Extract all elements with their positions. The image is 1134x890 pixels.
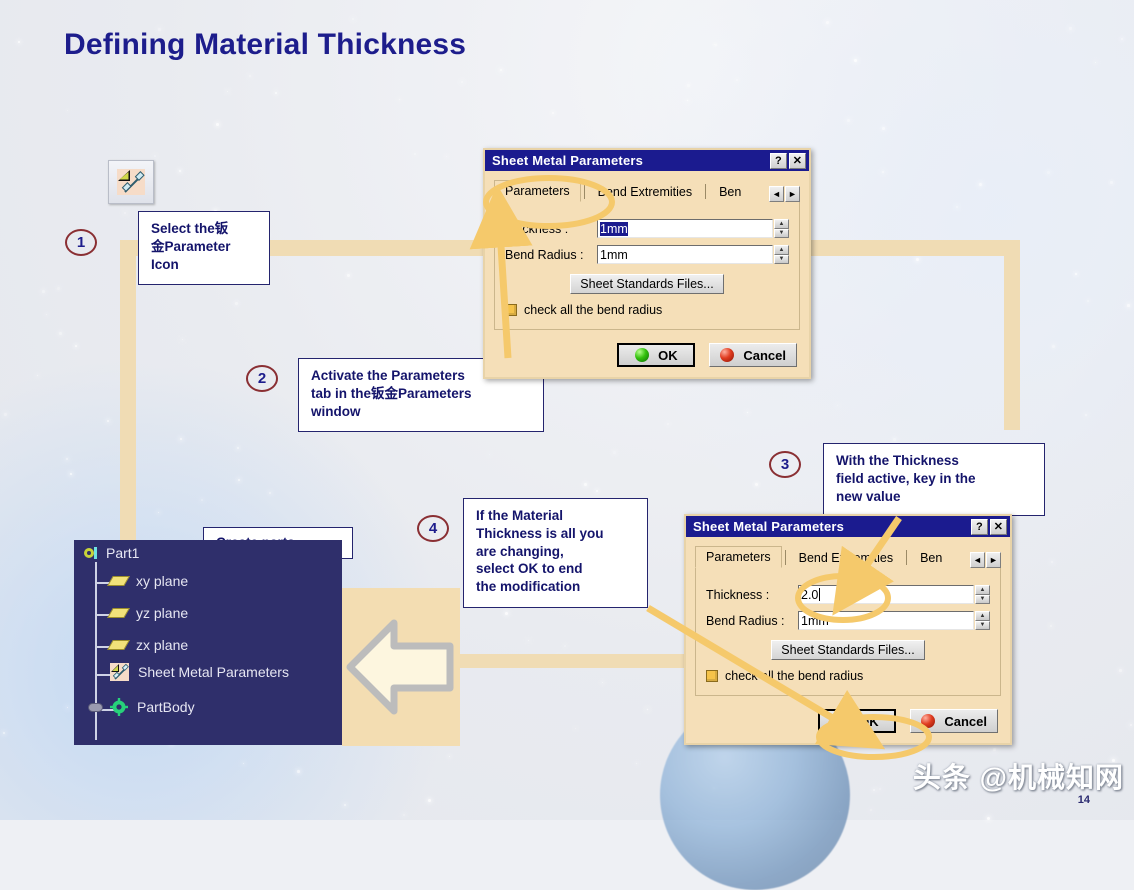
spinner-down-icon[interactable]: ▼ [774, 229, 789, 239]
tab-parameters[interactable]: Parameters [494, 180, 581, 202]
tree-collapse-node[interactable] [88, 703, 103, 712]
tab-parameters[interactable]: Parameters [695, 546, 782, 568]
callout-step-4-line-3: are changing, [476, 543, 637, 561]
sheet-metal-parameters-icon [110, 663, 129, 681]
watermark: 头条 @机械知网 [913, 756, 1124, 796]
page-title: Defining Material Thickness [64, 28, 466, 62]
tree-item-label: yz plane [136, 605, 188, 621]
dialog-body: Parameters Bend Extremities Ben ◄ ► Thic… [485, 171, 809, 334]
ok-button-label: OK [658, 348, 678, 363]
callout-step-3-line-1: With the Thickness [836, 452, 1034, 470]
cancel-button[interactable]: Cancel [910, 709, 998, 733]
tab-bend-truncated[interactable]: Ben [910, 548, 952, 568]
help-button[interactable]: ? [971, 519, 988, 535]
thickness-input[interactable]: 2.0 [798, 585, 974, 604]
page-number: 14 [1078, 794, 1090, 806]
close-icon[interactable]: ✕ [990, 519, 1007, 535]
callout-step-3-line-3: new value [836, 488, 1034, 506]
sheet-metal-parameters-glyph [116, 168, 146, 196]
callout-step-1-line-1: Select the钣 [151, 220, 259, 238]
spinner-down-icon[interactable]: ▼ [975, 595, 990, 605]
tree-root-label: Part1 [106, 545, 139, 561]
tab-scroll-right-icon[interactable]: ► [986, 552, 1001, 568]
dialog-title-label: Sheet Metal Parameters [693, 519, 844, 534]
step-number-3: 3 [769, 451, 801, 478]
check-all-bend-radius-checkbox[interactable] [706, 670, 718, 682]
tab-separator [584, 184, 585, 199]
check-all-bend-radius-label: check all the bend radius [725, 669, 863, 683]
flow-ribbon-right-vertical [1004, 240, 1020, 430]
left-arrow-icon [342, 588, 460, 746]
tree-item-sheet-metal-parameters[interactable]: Sheet Metal Parameters [110, 663, 289, 681]
dialog-titlebar[interactable]: Sheet Metal Parameters ? ✕ [686, 516, 1010, 537]
bend-radius-row: Bend Radius : 1mm ▲▼ [706, 611, 990, 630]
green-ball-icon [836, 714, 850, 728]
plane-icon [107, 640, 130, 650]
dialog-footer: OK Cancel [485, 334, 809, 377]
bend-radius-input[interactable]: 1mm [597, 245, 773, 264]
check-bend-radius-row[interactable]: check all the bend radius [505, 303, 789, 317]
tab-scroll-right-icon[interactable]: ► [785, 186, 800, 202]
step-number-4-label: 4 [429, 520, 437, 537]
ok-button-label: OK [859, 714, 879, 729]
part-icon [82, 545, 100, 561]
callout-step-1: Select the钣 金Parameter Icon [138, 211, 270, 285]
tab-scroll-left-icon[interactable]: ◄ [769, 186, 784, 202]
red-ball-icon [921, 714, 935, 728]
tree-item-partbody[interactable]: PartBody [110, 698, 195, 716]
thickness-label: Thickness : [505, 222, 597, 236]
step-number-4: 4 [417, 515, 449, 542]
bend-radius-input[interactable]: 1mm [798, 611, 974, 630]
tab-separator [705, 184, 706, 199]
tree-item-label: xy plane [136, 573, 188, 589]
ok-button[interactable]: OK [617, 343, 695, 367]
tree-item-label: PartBody [137, 699, 195, 715]
tree-root-part1[interactable]: Part1 [82, 545, 139, 561]
bend-radius-input-value: 1mm [600, 248, 628, 262]
dialog-title-label: Sheet Metal Parameters [492, 153, 643, 168]
plane-icon [107, 576, 130, 586]
tab-separator [785, 550, 786, 565]
flow-ribbon-bottom [455, 654, 685, 668]
tab-scroll-controls[interactable]: ◄ ► [769, 186, 800, 202]
sheet-standards-files-button[interactable]: Sheet Standards Files... [570, 274, 723, 294]
step-number-1: 1 [65, 229, 97, 256]
spinner-up-icon[interactable]: ▲ [774, 219, 789, 229]
check-all-bend-radius-checkbox[interactable] [505, 304, 517, 316]
tab-panel-parameters: Thickness : 1mm ▲▼ Bend Radius : 1mm ▲▼ … [494, 202, 800, 330]
callout-step-1-line-3: Icon [151, 256, 259, 274]
text-caret [819, 588, 820, 601]
tab-bend-truncated[interactable]: Ben [709, 182, 751, 202]
callout-step-4-line-1: If the Material [476, 507, 637, 525]
thickness-row: Thickness : 1mm ▲▼ [505, 219, 789, 238]
tab-bend-extremities[interactable]: Bend Extremities [588, 182, 702, 202]
dialog-sheet-metal-parameters-before[interactable]: Sheet Metal Parameters ? ✕ Parameters Be… [483, 148, 811, 379]
bend-radius-label: Bend Radius : [706, 614, 798, 628]
thickness-input-value: 2.0 [801, 588, 818, 602]
help-button[interactable]: ? [770, 153, 787, 169]
cancel-button[interactable]: Cancel [709, 343, 797, 367]
sheet-standards-row: Sheet Standards Files... [505, 274, 789, 294]
thickness-input[interactable]: 1mm [597, 219, 773, 238]
spinner-down-icon[interactable]: ▼ [975, 621, 990, 631]
thickness-row: Thickness : 2.0 ▲▼ [706, 585, 990, 604]
sheet-standards-files-button[interactable]: Sheet Standards Files... [771, 640, 924, 660]
red-ball-icon [720, 348, 734, 362]
thickness-input-value: 1mm [600, 222, 628, 236]
spinner-down-icon[interactable]: ▼ [774, 255, 789, 265]
step-number-1-label: 1 [77, 234, 85, 251]
tab-panel-parameters: Thickness : 2.0 ▲▼ Bend Radius : 1mm ▲▼ … [695, 568, 1001, 696]
plane-icon [107, 608, 130, 618]
spinner-up-icon[interactable]: ▲ [975, 585, 990, 595]
check-bend-radius-row[interactable]: check all the bend radius [706, 669, 990, 683]
thickness-spinner[interactable]: ▲▼ [975, 585, 990, 604]
dialog-titlebar[interactable]: Sheet Metal Parameters ? ✕ [485, 150, 809, 171]
bend-radius-row: Bend Radius : 1mm ▲▼ [505, 245, 789, 264]
callout-step-3-line-2: field active, key in the [836, 470, 1034, 488]
green-ball-icon [635, 348, 649, 362]
flow-ribbon-right-top [806, 240, 1020, 256]
bend-radius-label: Bend Radius : [505, 248, 597, 262]
tabstrip[interactable]: Parameters Bend Extremities Ben ◄ ► [494, 178, 800, 202]
callout-step-1-line-2: 金Parameter [151, 238, 259, 256]
sheet-metal-parameters-icon[interactable] [108, 160, 154, 204]
tab-scroll-controls[interactable]: ◄ ► [970, 552, 1001, 568]
cancel-button-label: Cancel [944, 714, 987, 729]
ok-button[interactable]: OK [818, 709, 896, 733]
callout-step-4: If the Material Thickness is all you are… [463, 498, 648, 608]
partbody-icon [110, 698, 128, 716]
callout-step-4-line-5: the modification [476, 578, 637, 596]
tree-item-yz-plane[interactable]: yz plane [110, 605, 188, 621]
callout-step-2-line-3: window [311, 403, 533, 421]
tab-bend-extremities[interactable]: Bend Extremities [789, 548, 903, 568]
flow-back-arrow-block [342, 588, 460, 746]
bend-radius-spinner[interactable]: ▲▼ [975, 611, 990, 630]
tree-item-label: zx plane [136, 637, 188, 653]
cancel-button-label: Cancel [743, 348, 786, 363]
thickness-label: Thickness : [706, 588, 798, 602]
callout-step-2-line-2: tab in the钣金Parameters [311, 385, 533, 403]
tab-separator [906, 550, 907, 565]
step-number-2: 2 [246, 365, 278, 392]
callout-step-3: With the Thickness field active, key in … [823, 443, 1045, 516]
spec-tree-panel[interactable]: Part1 xy plane yz plane zx plane Sheet M… [74, 540, 342, 745]
close-icon[interactable]: ✕ [789, 153, 806, 169]
callout-step-4-line-2: Thickness is all you [476, 525, 637, 543]
thickness-spinner[interactable]: ▲▼ [774, 219, 789, 238]
callout-step-4-line-4: select OK to end [476, 560, 637, 578]
tree-vertical-line [95, 562, 97, 740]
step-number-2-label: 2 [258, 370, 266, 387]
tree-item-label: Sheet Metal Parameters [138, 664, 289, 680]
tree-item-zx-plane[interactable]: zx plane [110, 637, 188, 653]
sheet-standards-row: Sheet Standards Files... [706, 640, 990, 660]
bend-radius-input-value: 1mm [801, 614, 829, 628]
dialog-footer: OK Cancel [686, 700, 1010, 743]
dialog-sheet-metal-parameters-after[interactable]: Sheet Metal Parameters ? ✕ Parameters Be… [684, 514, 1012, 745]
spinner-up-icon[interactable]: ▲ [774, 245, 789, 255]
tabstrip[interactable]: Parameters Bend Extremities Ben ◄ ► [695, 544, 1001, 568]
dialog-body: Parameters Bend Extremities Ben ◄ ► Thic… [686, 537, 1010, 700]
bend-radius-spinner[interactable]: ▲▼ [774, 245, 789, 264]
spinner-up-icon[interactable]: ▲ [975, 611, 990, 621]
flow-ribbon-left-vertical [120, 240, 136, 560]
check-all-bend-radius-label: check all the bend radius [524, 303, 662, 317]
step-number-3-label: 3 [781, 456, 789, 473]
tab-scroll-left-icon[interactable]: ◄ [970, 552, 985, 568]
tree-item-xy-plane[interactable]: xy plane [110, 573, 188, 589]
